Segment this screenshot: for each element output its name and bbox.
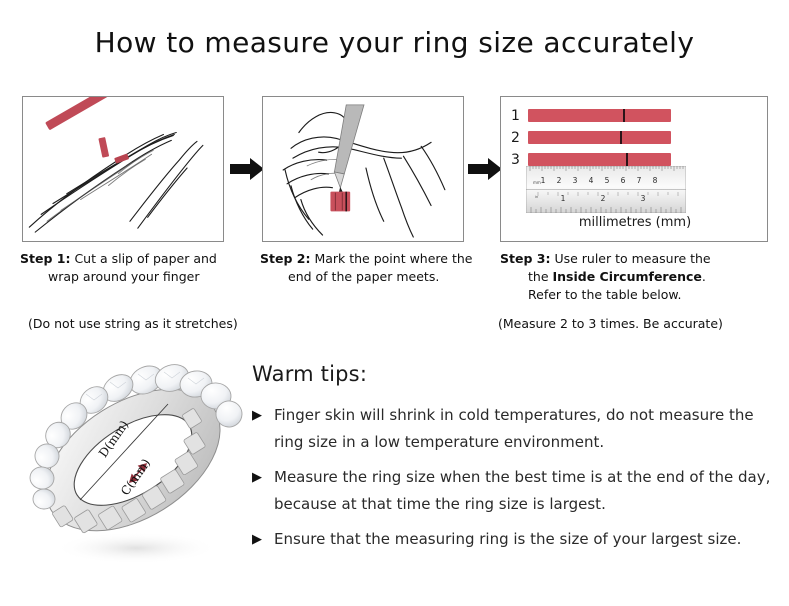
strip-row: 2 — [511, 128, 759, 147]
paper-strip-end — [114, 153, 129, 163]
svg-text:1: 1 — [541, 176, 546, 185]
svg-text:3: 3 — [641, 194, 646, 203]
strip-number: 2 — [511, 131, 528, 145]
ruler-unit-caption: millimetres (mm) — [501, 215, 768, 230]
tip-item: ▶ Measure the ring size when the best ti… — [252, 464, 772, 518]
svg-text:2: 2 — [601, 194, 606, 203]
strip-number: 1 — [511, 109, 528, 123]
svg-text:3: 3 — [573, 176, 578, 185]
paper-strip-wrap — [98, 137, 109, 158]
bullet-triangle-icon: ▶ — [252, 526, 262, 553]
svg-text:5: 5 — [605, 176, 610, 185]
step-3-note: (Measure 2 to 3 times. Be accurate) — [498, 315, 778, 333]
svg-text:1: 1 — [561, 194, 566, 203]
step-1-note: (Do not use string as it stretches) — [28, 315, 268, 333]
hand-marking-paper-illustration — [263, 97, 463, 241]
step-2-caption: Step 2: Mark the point where the end of … — [260, 250, 492, 286]
svg-text:2: 2 — [557, 176, 562, 185]
step-3-line3: Refer to the table below. — [500, 286, 775, 304]
step-3-inside-circumference: Inside Circumference — [553, 269, 702, 284]
paper-strip-red — [45, 97, 125, 130]
strip-mark-tick — [620, 131, 622, 144]
paper-strip-bar — [528, 153, 671, 166]
pen-icon — [334, 105, 364, 196]
step-3-label: Step 3: — [500, 251, 550, 266]
strip-mark-tick — [626, 153, 628, 166]
strip-number: 3 — [511, 153, 528, 167]
steps-row: 1 2 3 — [0, 96, 789, 242]
paper-strip-bar — [528, 109, 671, 122]
step-1-line1: Cut a slip of paper and — [74, 251, 216, 266]
tip-text: Ensure that the measuring ring is the si… — [274, 530, 741, 548]
arrow-step2-to-step3-icon — [468, 158, 502, 180]
bullet-triangle-icon: ▶ — [252, 464, 262, 491]
arrow-step1-to-step2-icon — [230, 158, 264, 180]
step-2-label: Step 2: — [260, 251, 310, 266]
paper-strip-red-wrapped — [330, 192, 350, 212]
page-title: How to measure your ring size accurately — [0, 26, 789, 59]
warm-tips-heading: Warm tips: — [252, 362, 772, 386]
svg-text:mm: mm — [533, 180, 541, 185]
bullet-triangle-icon: ▶ — [252, 402, 262, 429]
ruler-illustration: 1 2 3 4 5 6 7 8 mm 1 2 3 in — [526, 166, 686, 213]
step-2-illustration-panel — [262, 96, 464, 242]
step-3-line2-prefix: the — [528, 269, 553, 284]
ring-shadow — [54, 532, 218, 564]
measured-strips-group: 1 2 3 — [511, 106, 759, 172]
tip-item: ▶ Ensure that the measuring ring is the … — [252, 526, 772, 553]
step-1-label: Step 1: — [20, 251, 70, 266]
strip-row: 1 — [511, 106, 759, 125]
step-3-line1: Use ruler to measure the — [554, 251, 710, 266]
eternity-ring-illustration — [18, 352, 248, 577]
step-3-caption: Step 3: Use ruler to measure the the Ins… — [500, 250, 775, 304]
step-1-caption: Step 1: Cut a slip of paper and wrap aro… — [20, 250, 252, 286]
svg-text:7: 7 — [637, 176, 642, 185]
tip-text: Measure the ring size when the best time… — [274, 468, 770, 513]
step-3-line2-suffix: . — [702, 269, 706, 284]
step-2-line1: Mark the point where the — [314, 251, 472, 266]
step-1-illustration-panel — [22, 96, 224, 242]
svg-text:4: 4 — [589, 176, 594, 185]
hand-with-paper-strip-illustration — [23, 97, 223, 241]
svg-text:6: 6 — [621, 176, 626, 185]
strip-mark-tick — [623, 109, 625, 122]
tip-item: ▶ Finger skin will shrink in cold temper… — [252, 402, 772, 456]
ring-diagram: D(mm) C(mm) — [18, 352, 248, 577]
tip-text: Finger skin will shrink in cold temperat… — [274, 406, 754, 451]
paper-strip-bar — [528, 131, 671, 144]
step-2-line2: end of the paper meets. — [260, 268, 492, 286]
warm-tips-section: Warm tips: ▶ Finger skin will shrink in … — [252, 362, 772, 561]
step-1-line2: wrap around your finger — [20, 268, 252, 286]
svg-text:8: 8 — [653, 176, 658, 185]
step-3-illustration-panel: 1 2 3 — [500, 96, 768, 242]
